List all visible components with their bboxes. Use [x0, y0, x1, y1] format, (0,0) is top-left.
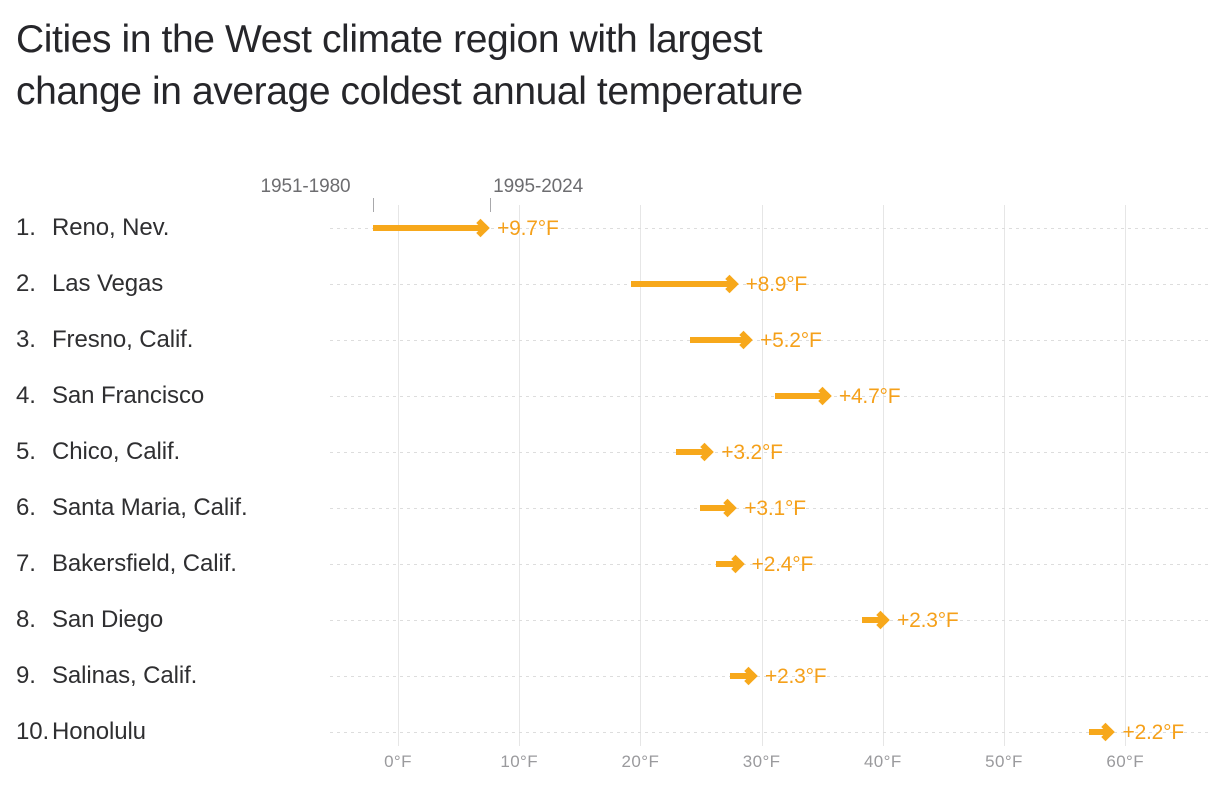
- change-value-label: +3.2°F: [721, 441, 782, 465]
- change-arrow: [862, 617, 885, 623]
- row-rank: 8.: [16, 606, 52, 634]
- change-arrow: [1089, 729, 1111, 735]
- period-tick-start: [373, 198, 374, 212]
- row-baseline: [330, 732, 1212, 733]
- change-arrow: [676, 449, 710, 455]
- x-tick-label: 40°F: [864, 752, 902, 772]
- row-city-name: Honolulu: [52, 718, 146, 745]
- change-value-label: +2.3°F: [765, 665, 826, 689]
- row-city-name: Santa Maria, Calif.: [52, 494, 248, 521]
- row-label: 3.Fresno, Calif.: [16, 326, 193, 354]
- row-label: 8.San Diego: [16, 606, 163, 634]
- row-label: 6.Santa Maria, Calif.: [16, 494, 248, 522]
- row-rank: 3.: [16, 326, 52, 354]
- change-value-label: +3.1°F: [744, 497, 805, 521]
- row-city-name: San Francisco: [52, 382, 204, 409]
- x-tick-label: 30°F: [743, 752, 781, 772]
- row-rank: 2.: [16, 270, 52, 298]
- change-arrow: [700, 505, 733, 511]
- change-arrow: [373, 225, 486, 231]
- change-value-label: +2.2°F: [1123, 721, 1184, 745]
- x-tick-label: 10°F: [500, 752, 538, 772]
- row-label: 5.Chico, Calif.: [16, 438, 180, 466]
- row-rank: 5.: [16, 438, 52, 466]
- change-value-label: +4.7°F: [839, 385, 900, 409]
- change-arrow: [631, 281, 734, 287]
- row-city-name: San Diego: [52, 606, 163, 633]
- gridline: [883, 205, 884, 746]
- row-rank: 4.: [16, 382, 52, 410]
- x-tick-label: 20°F: [622, 752, 660, 772]
- change-value-label: +2.4°F: [752, 553, 813, 577]
- change-value-label: +8.9°F: [746, 273, 807, 297]
- chart-page: Cities in the West climate region with l…: [0, 0, 1220, 786]
- change-arrow: [716, 561, 740, 567]
- row-label: 1.Reno, Nev.: [16, 214, 169, 242]
- gridline: [398, 205, 399, 746]
- gridline: [519, 205, 520, 746]
- row-city-name: Bakersfield, Calif.: [52, 550, 237, 577]
- change-value-label: +5.2°F: [760, 329, 821, 353]
- row-label: 4.San Francisco: [16, 382, 204, 410]
- row-city-name: Chico, Calif.: [52, 438, 180, 465]
- change-arrow: [730, 673, 753, 679]
- row-label: 10.Honolulu: [16, 718, 146, 746]
- change-arrow: [775, 393, 827, 399]
- period-tick-end: [490, 198, 491, 212]
- x-tick-label: 0°F: [384, 752, 412, 772]
- row-rank: 6.: [16, 494, 52, 522]
- change-value-label: +2.3°F: [897, 609, 958, 633]
- row-baseline: [330, 620, 1212, 621]
- row-label: 7.Bakersfield, Calif.: [16, 550, 237, 578]
- row-rank: 7.: [16, 550, 52, 578]
- x-tick-label: 50°F: [985, 752, 1023, 772]
- gridline: [1125, 205, 1126, 746]
- row-label: 9.Salinas, Calif.: [16, 662, 197, 690]
- row-label: 2.Las Vegas: [16, 270, 163, 298]
- arrow-chart: 1.Reno, Nev.2.Las Vegas3.Fresno, Calif.4…: [0, 0, 1220, 786]
- period-label-end: 1995-2024: [493, 176, 583, 198]
- period-label-start: 1951-1980: [261, 176, 351, 198]
- row-rank: 10.: [16, 718, 52, 746]
- row-city-name: Las Vegas: [52, 270, 163, 297]
- row-rank: 9.: [16, 662, 52, 690]
- change-value-label: +9.7°F: [497, 217, 558, 241]
- x-tick-label: 60°F: [1106, 752, 1144, 772]
- row-city-name: Salinas, Calif.: [52, 662, 197, 689]
- row-city-name: Fresno, Calif.: [52, 326, 193, 353]
- row-city-name: Reno, Nev.: [52, 214, 169, 241]
- row-baseline: [330, 396, 1212, 397]
- gridline: [1004, 205, 1005, 746]
- row-rank: 1.: [16, 214, 52, 242]
- change-arrow: [690, 337, 748, 343]
